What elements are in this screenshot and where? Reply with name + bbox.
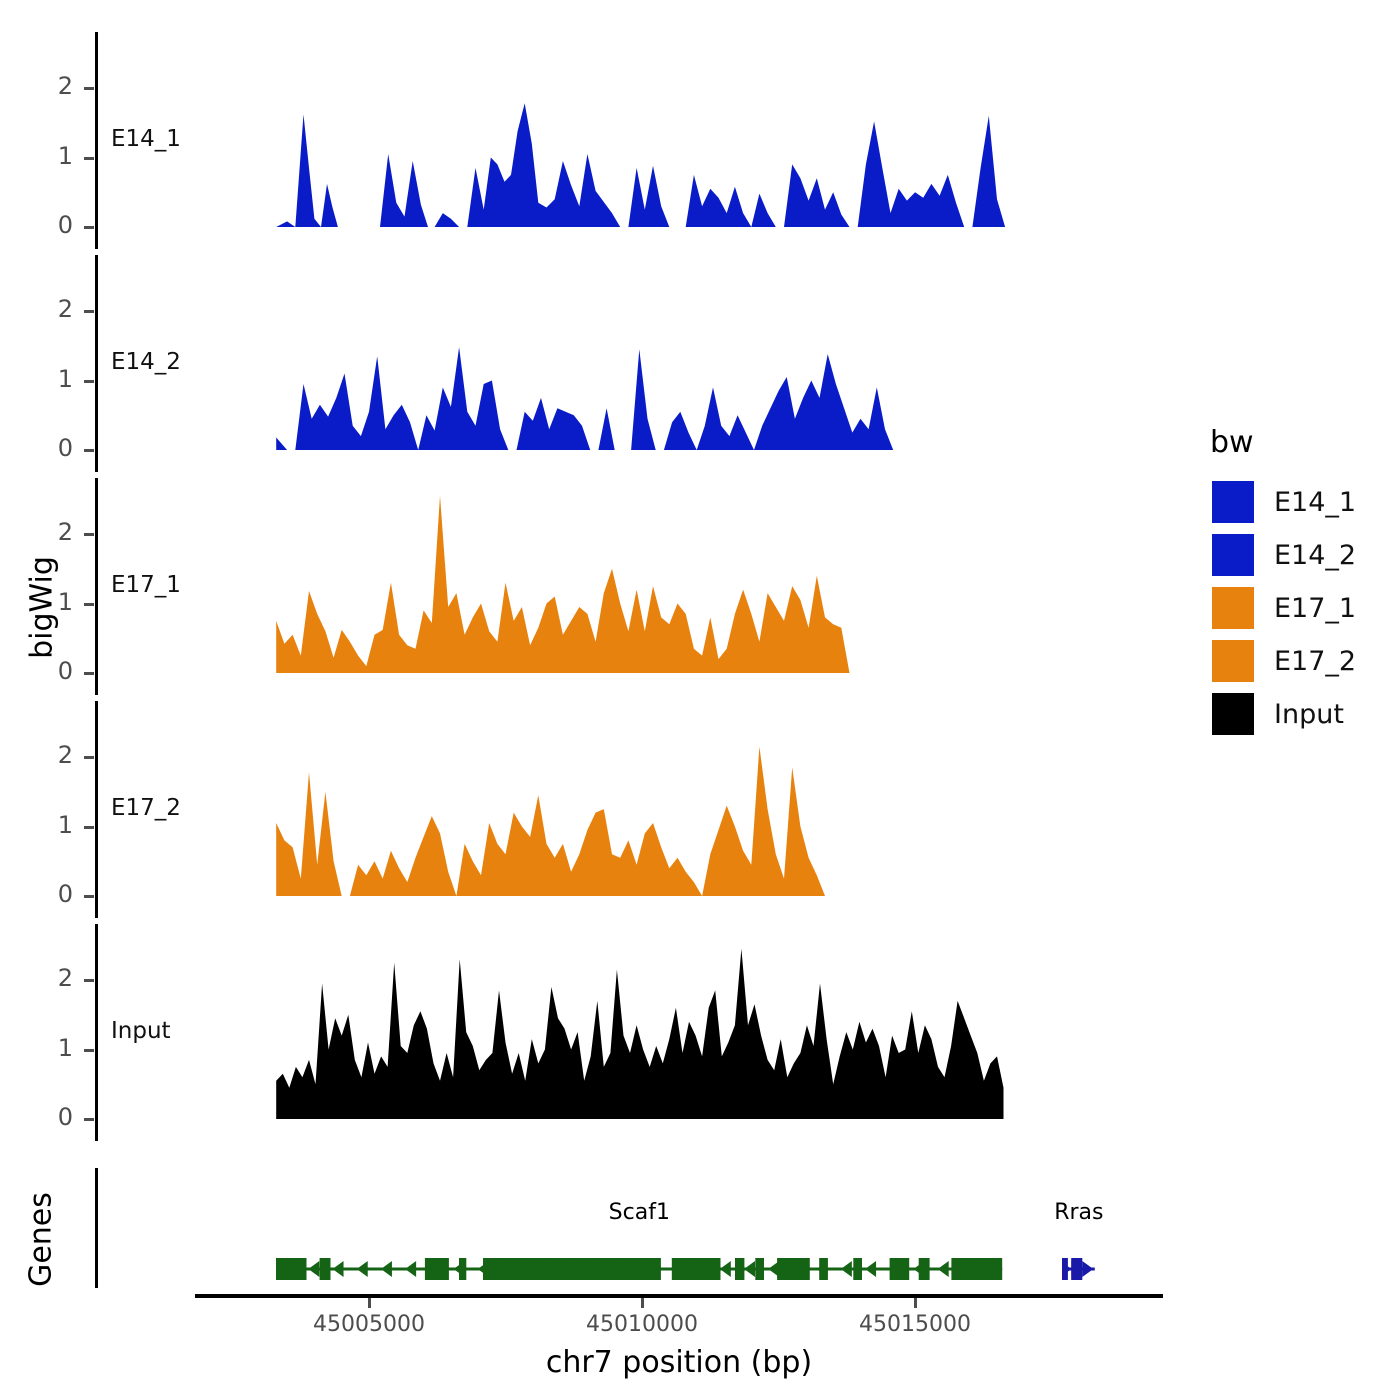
legend-swatch-e14_1	[1212, 481, 1254, 523]
gene-label-scaf1: Scaf1	[216, 1200, 1062, 1225]
x-tick-mark	[641, 1298, 644, 1308]
gene-model-scaf1	[276, 1258, 1006, 1288]
x-tick-mark	[368, 1298, 371, 1308]
signal-area	[276, 949, 1003, 1119]
legend-item-input[interactable]: Input	[1212, 693, 1344, 735]
legend-label-e14_2: E14_2	[1274, 540, 1356, 571]
legend-swatch-input	[1212, 693, 1254, 735]
track-area-input	[0, 922, 1180, 1145]
track-area-e17_1	[0, 476, 1180, 699]
legend-item-e17_1[interactable]: E17_1	[1212, 587, 1356, 629]
track-area-e17_2	[0, 699, 1180, 922]
legend-label-e14_1: E14_1	[1274, 487, 1356, 518]
x-tick-label: 45005000	[259, 1312, 479, 1337]
signal-area	[276, 103, 1087, 227]
legend-swatch-e14_2	[1212, 534, 1254, 576]
genes-axis-line	[95, 1168, 98, 1288]
legend-label-e17_2: E17_2	[1274, 646, 1356, 677]
legend-swatch-e17_1	[1212, 587, 1254, 629]
legend-label-e17_1: E17_1	[1274, 593, 1356, 624]
signal-area	[276, 747, 1087, 896]
x-axis-line	[195, 1294, 1163, 1298]
x-tick-label: 45015000	[805, 1312, 1025, 1337]
gene-label-rras: Rras	[1002, 1200, 1155, 1225]
signal-area	[276, 496, 1095, 673]
x-tick-mark	[914, 1298, 917, 1308]
legend-item-e17_2[interactable]: E17_2	[1212, 640, 1356, 682]
legend-label-input: Input	[1274, 699, 1344, 730]
legend-swatch-e17_2	[1212, 640, 1254, 682]
legend-title: bw	[1210, 425, 1254, 460]
x-axis-title: chr7 position (bp)	[195, 1345, 1163, 1380]
track-area-e14_1	[0, 30, 1180, 253]
legend-item-e14_1[interactable]: E14_1	[1212, 481, 1356, 523]
gene-model-rras	[1062, 1258, 1099, 1288]
x-tick-label: 45010000	[532, 1312, 752, 1337]
legend-item-e14_2[interactable]: E14_2	[1212, 534, 1356, 576]
signal-area	[276, 347, 1098, 450]
genes-axis-label: Genes	[24, 1185, 59, 1295]
track-area-e14_2	[0, 253, 1180, 476]
